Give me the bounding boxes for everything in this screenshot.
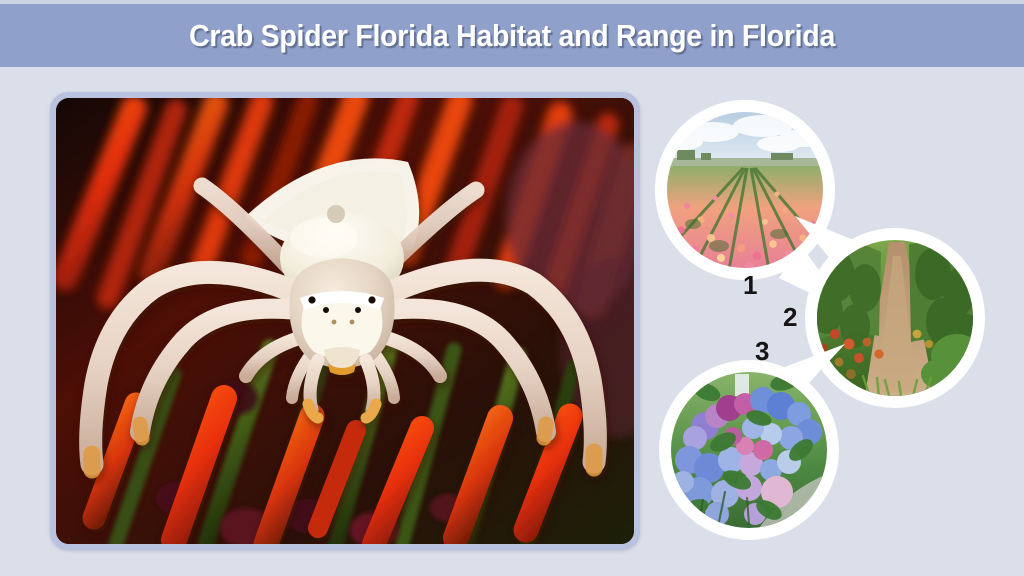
main-photo-frame	[50, 92, 640, 550]
crab-spider-illustration	[56, 98, 634, 544]
map-pin-1-number: 1	[743, 272, 757, 298]
map-pin-3[interactable]	[659, 342, 859, 552]
map-pin-3-number: 3	[755, 338, 769, 364]
slide-canvas: Crab Spider Florida Habitat and Range in…	[0, 0, 1024, 576]
header-bar: Crab Spider Florida Habitat and Range in…	[0, 4, 1024, 67]
map-pin-2-number: 2	[783, 304, 797, 330]
map-pin-3-shape	[659, 342, 859, 552]
main-photo	[56, 98, 634, 544]
map-pin-cluster: 1 2 3	[645, 92, 1005, 552]
page-title: Crab Spider Florida Habitat and Range in…	[189, 18, 835, 54]
